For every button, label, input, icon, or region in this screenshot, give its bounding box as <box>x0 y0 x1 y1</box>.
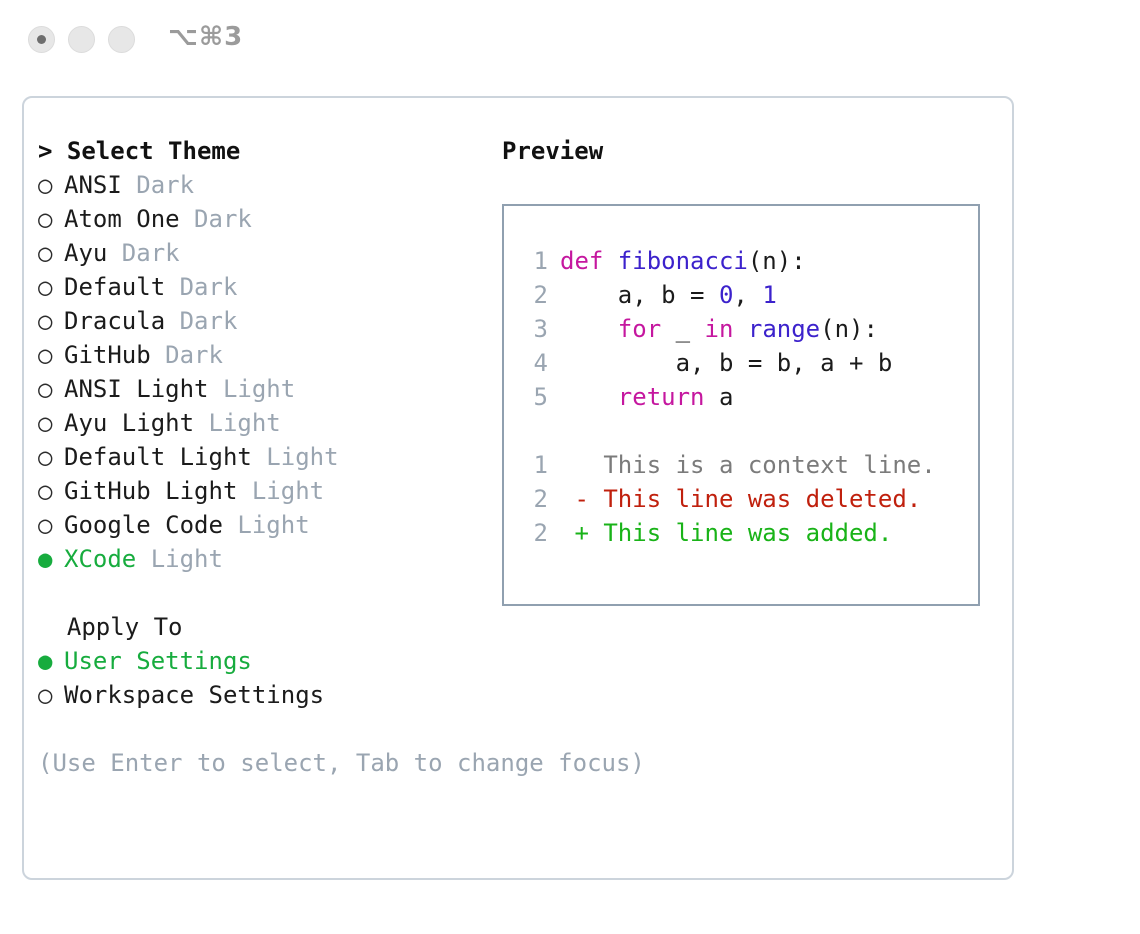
code-diff-spacer <box>522 414 978 448</box>
radio-selected-icon: ● <box>38 542 64 576</box>
line-number: 2 <box>522 278 548 312</box>
apply-to-option[interactable]: ●User Settings <box>38 644 478 678</box>
code-token: a, b = <box>560 281 719 309</box>
theme-list-item[interactable]: ○Dracula Dark <box>38 304 478 338</box>
theme-variant-badge: Light <box>194 409 281 437</box>
theme-name: Google Code <box>64 511 223 539</box>
radio-unselected-icon: ○ <box>38 236 64 270</box>
code-token: range <box>748 315 820 343</box>
diff-line: 2 + This line was added. <box>522 516 978 550</box>
theme-name: Default Light <box>64 443 252 471</box>
code-token: a, b = b, a + b <box>560 349 892 377</box>
diff-line: 1 This is a context line. <box>522 448 978 482</box>
theme-variant-badge: Light <box>136 545 223 573</box>
theme-variant-badge: Dark <box>122 171 194 199</box>
line-number: 5 <box>522 380 548 414</box>
radio-unselected-icon: ○ <box>38 338 64 372</box>
diff-text: - This line was deleted. <box>560 485 921 513</box>
line-number: 1 <box>522 244 548 278</box>
theme-list-item[interactable]: ○Default Light Light <box>38 440 478 474</box>
diff-text: + This line was added. <box>560 519 892 547</box>
theme-list-item[interactable]: ○GitHub Dark <box>38 338 478 372</box>
select-theme-heading: > Select Theme <box>38 134 478 168</box>
theme-variant-badge: Dark <box>180 205 252 233</box>
theme-list-item[interactable]: ○Atom One Dark <box>38 202 478 236</box>
window-dot-active-indicator <box>37 35 46 44</box>
apply-to-list: ●User Settings○Workspace Settings <box>38 644 478 712</box>
code-token: _ <box>661 315 704 343</box>
code-sample: 1def fibonacci(n):2 a, b = 0, 13 for _ i… <box>522 244 978 414</box>
theme-variant-badge: Dark <box>107 239 179 267</box>
theme-name: GitHub <box>64 341 151 369</box>
diff-line: 2 - This line was deleted. <box>522 482 978 516</box>
radio-unselected-icon: ○ <box>38 270 64 304</box>
theme-name: Atom One <box>64 205 180 233</box>
theme-variant-badge: Dark <box>151 341 223 369</box>
line-number: 2 <box>522 482 548 516</box>
theme-name: GitHub Light <box>64 477 237 505</box>
radio-unselected-icon: ○ <box>38 474 64 508</box>
keyboard-shortcut-label: ⌥⌘3 <box>168 22 243 52</box>
window-controls <box>28 26 135 53</box>
line-number: 4 <box>522 346 548 380</box>
window-dot-maximize-icon[interactable] <box>108 26 135 53</box>
code-token: def <box>560 247 618 275</box>
main-panel: > Select Theme ○ANSI Dark○Atom One Dark○… <box>22 96 1014 880</box>
theme-list-item[interactable]: ●XCode Light <box>38 542 478 576</box>
theme-list-item[interactable]: ○Default Dark <box>38 270 478 304</box>
theme-variant-badge: Light <box>237 477 324 505</box>
theme-list-item[interactable]: ○ANSI Dark <box>38 168 478 202</box>
theme-name: Ayu <box>64 239 107 267</box>
preview-box: 1def fibonacci(n):2 a, b = 0, 13 for _ i… <box>502 204 980 606</box>
radio-selected-icon: ● <box>38 644 64 678</box>
preview-column: Preview 1def fibonacci(n):2 a, b = 0, 13… <box>502 134 1002 606</box>
keyboard-hint-text: (Use Enter to select, Tab to change focu… <box>38 746 458 780</box>
app-window: ⌥⌘3 > Select Theme ○ANSI Dark○Atom One D… <box>0 0 1140 934</box>
code-token: in <box>705 315 734 343</box>
code-token <box>733 315 747 343</box>
theme-list-item[interactable]: ○Ayu Light Light <box>38 406 478 440</box>
diff-text: This is a context line. <box>560 451 936 479</box>
radio-unselected-icon: ○ <box>38 372 64 406</box>
code-token: return <box>618 383 705 411</box>
radio-unselected-icon: ○ <box>38 508 64 542</box>
apply-to-label: User Settings <box>64 647 252 675</box>
code-line: 3 for _ in range(n): <box>522 312 978 346</box>
window-dot-close-icon[interactable] <box>28 26 55 53</box>
diff-sample: 1 This is a context line.2 - This line w… <box>522 448 978 550</box>
code-token: fibonacci <box>618 247 748 275</box>
theme-list: ○ANSI Dark○Atom One Dark○Ayu Dark○Defaul… <box>38 168 478 576</box>
apply-to-title: Apply To <box>38 610 478 644</box>
code-token: (n): <box>748 247 806 275</box>
code-token: (n): <box>820 315 878 343</box>
code-line: 4 a, b = b, a + b <box>522 346 978 380</box>
window-dot-minimize-icon[interactable] <box>68 26 95 53</box>
theme-list-item[interactable]: ○GitHub Light Light <box>38 474 478 508</box>
code-token <box>560 315 618 343</box>
preview-title: Preview <box>502 134 1002 168</box>
radio-unselected-icon: ○ <box>38 678 64 712</box>
code-token: , <box>733 281 762 309</box>
code-token <box>560 383 618 411</box>
theme-name: Default <box>64 273 165 301</box>
radio-unselected-icon: ○ <box>38 406 64 440</box>
radio-unselected-icon: ○ <box>38 202 64 236</box>
theme-picker-column: > Select Theme ○ANSI Dark○Atom One Dark○… <box>38 134 478 780</box>
radio-unselected-icon: ○ <box>38 168 64 202</box>
theme-variant-badge: Light <box>223 511 310 539</box>
theme-name: Ayu Light <box>64 409 194 437</box>
line-number: 2 <box>522 516 548 550</box>
code-line: 5 return a <box>522 380 978 414</box>
theme-name: XCode <box>64 545 136 573</box>
code-token: 1 <box>762 281 776 309</box>
apply-to-option[interactable]: ○Workspace Settings <box>38 678 478 712</box>
line-number: 1 <box>522 448 548 482</box>
theme-list-item[interactable]: ○ANSI Light Light <box>38 372 478 406</box>
theme-variant-badge: Dark <box>165 307 237 335</box>
code-line: 2 a, b = 0, 1 <box>522 278 978 312</box>
radio-unselected-icon: ○ <box>38 304 64 338</box>
theme-name: ANSI <box>64 171 122 199</box>
theme-list-item[interactable]: ○Ayu Dark <box>38 236 478 270</box>
code-token: for <box>618 315 661 343</box>
radio-unselected-icon: ○ <box>38 440 64 474</box>
title-bar: ⌥⌘3 <box>0 0 1140 78</box>
apply-to-label: Workspace Settings <box>64 681 324 709</box>
theme-name: ANSI Light <box>64 375 209 403</box>
theme-name: Dracula <box>64 307 165 335</box>
theme-variant-badge: Light <box>209 375 296 403</box>
line-number: 3 <box>522 312 548 346</box>
code-token: 0 <box>719 281 733 309</box>
code-line: 1def fibonacci(n): <box>522 244 978 278</box>
theme-list-item[interactable]: ○Google Code Light <box>38 508 478 542</box>
code-token: a <box>705 383 734 411</box>
theme-variant-badge: Dark <box>165 273 237 301</box>
theme-variant-badge: Light <box>252 443 339 471</box>
